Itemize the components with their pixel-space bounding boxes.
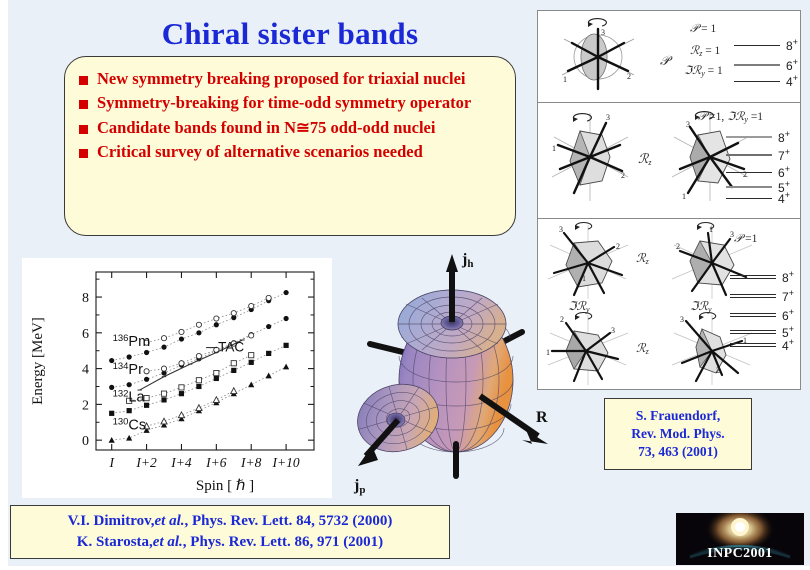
symmetry-panel-group: 3 1 2 𝒫 𝒫 = 1 ℛz = 1 ℑℛy = 1 8+ 6+ <box>537 10 801 390</box>
data-point <box>179 391 184 396</box>
chiral-geometry-figure: jh jp R <box>352 244 557 506</box>
svg-text:2: 2 <box>560 315 564 324</box>
data-point <box>179 329 184 334</box>
slide-canvas: Chiral sister bands New symmetry breakin… <box>0 0 810 570</box>
level-label: 8+ <box>778 129 790 145</box>
bullet-text: New symmetry breaking proposed for triax… <box>97 69 465 88</box>
bullet-text: Symmetry-breaking for time-odd symmetry … <box>97 93 471 112</box>
x-tick-label: I+6 <box>205 455 227 470</box>
svg-text:2: 2 <box>716 366 720 375</box>
level-line <box>726 136 772 138</box>
y-tick-label: 6 <box>82 327 89 342</box>
y-tick-label: 0 <box>82 434 89 449</box>
level-line <box>734 64 780 66</box>
left-margin-strip <box>0 0 8 570</box>
annotation-tac: TAC <box>218 340 244 355</box>
symmetry-panel-chiral: 3 1 2 ℛz <box>538 219 800 389</box>
svg-text:3: 3 <box>559 225 563 234</box>
data-point <box>161 397 166 402</box>
level-label: 4+ <box>782 337 794 353</box>
svg-text:1: 1 <box>563 75 567 84</box>
data-point <box>144 377 149 382</box>
level-4plus: 4+ <box>726 190 790 206</box>
level-line <box>734 81 780 82</box>
data-point <box>144 369 149 374</box>
x-tick-label: I+8 <box>240 455 262 470</box>
data-point <box>161 345 166 350</box>
level-line <box>726 198 772 199</box>
y-tick-label: 4 <box>82 363 89 378</box>
svg-text:1: 1 <box>709 225 713 234</box>
svg-text:3: 3 <box>611 326 615 335</box>
shape3d-svg: jh jp R <box>352 244 557 506</box>
level-label: 7+ <box>782 288 794 304</box>
condition-planar: 𝒫 =1, ℑℛy =1 <box>698 109 763 124</box>
data-point <box>231 361 236 366</box>
data-point <box>196 322 201 327</box>
bottom-margin-strip <box>0 566 810 570</box>
level-line-doublet <box>730 343 776 347</box>
bullet-text: Candidate bands found in N≅75 odd-odd nu… <box>97 118 435 137</box>
citation-line-dimitrov: V.I. Dimitrov,et al., Phys. Rev. Lett. 8… <box>68 511 393 532</box>
level-label: 8+ <box>786 37 798 53</box>
level-scheme-planar: 8+ 7+ 6+ 5+ 4+ <box>726 129 796 209</box>
data-point <box>283 290 288 295</box>
jh-arrowhead <box>446 254 458 272</box>
data-point <box>161 336 166 341</box>
svg-text:1: 1 <box>552 144 556 153</box>
data-point <box>127 408 132 413</box>
level-8plus: 8+ <box>730 269 794 285</box>
level-label: 6+ <box>778 164 790 180</box>
svg-text:2: 2 <box>616 242 620 251</box>
data-point <box>127 382 132 387</box>
data-point <box>179 336 184 341</box>
symmetry-panel-axial: 3 1 2 𝒫 𝒫 = 1 ℛz = 1 ℑℛy = 1 8+ 6+ <box>538 11 800 103</box>
level-4plus: 4+ <box>734 73 798 89</box>
list-item: Critical survey of alternative scenarios… <box>79 142 499 161</box>
inpc2001-logo: INPC2001 <box>676 513 804 565</box>
shape-diagram-planar-left: 3 1 2 <box>540 105 640 213</box>
jp-label: jp <box>353 477 365 496</box>
data-point <box>283 316 288 321</box>
symmetry-panel-planar: 3 1 2 ℛz <box>538 103 800 219</box>
data-point <box>144 396 149 401</box>
operator-label-Rz: ℛz <box>638 151 652 167</box>
level-8plus: 8+ <box>726 129 790 145</box>
condition-p: 𝒫 = 1 <box>690 23 716 36</box>
level-8plus: 8+ <box>734 37 798 53</box>
data-point <box>196 384 201 389</box>
svg-text:2: 2 <box>621 171 625 180</box>
x-tick-label: I <box>108 455 115 470</box>
level-scheme-chiral: 8+ 7+ 6+ 5+ 4+ <box>730 269 800 355</box>
level-line-doublet <box>730 294 776 298</box>
y-tick-label: 8 <box>82 291 89 306</box>
jh-label: jh <box>461 251 473 270</box>
svg-text:3: 3 <box>686 120 690 129</box>
data-point <box>266 324 271 329</box>
level-line <box>726 154 772 156</box>
energy-vs-spin-chart: 02468II+2I+4I+6I+8I+10Spin [ ℏ ]Energy [… <box>22 258 332 498</box>
page-title: Chiral sister bands <box>110 16 470 52</box>
level-scheme-axial: 8+ 6+ 4+ <box>734 37 798 93</box>
operator-label-Rz-bottom: ℛz <box>636 341 649 356</box>
bullet-square-icon <box>79 76 88 85</box>
data-point <box>161 366 166 371</box>
condition-iry: ℑℛy = 1 <box>684 63 723 78</box>
level-line <box>726 172 772 173</box>
data-point <box>231 311 236 316</box>
level-4plus: 4+ <box>730 337 794 353</box>
svg-text:3: 3 <box>606 113 610 122</box>
data-point <box>266 295 271 300</box>
bullet-callout: New symmetry breaking proposed for triax… <box>64 56 516 236</box>
citation-rest: , Phys. Rev. Lett. 86, 971 (2001) <box>183 534 383 550</box>
data-point <box>127 354 132 359</box>
citation-etal: et al. <box>153 534 183 550</box>
data-point <box>144 350 149 355</box>
data-point <box>179 385 184 390</box>
level-label: 8+ <box>782 269 794 285</box>
data-point <box>249 303 254 308</box>
citation-line: 73, 463 (2001) <box>638 443 718 461</box>
x-tick-label: I+4 <box>170 455 192 470</box>
list-item: New symmetry breaking proposed for triax… <box>79 69 499 88</box>
data-point <box>214 376 219 381</box>
level-6plus: 6+ <box>734 57 798 73</box>
data-point <box>214 316 219 321</box>
level-7plus: 7+ <box>726 147 790 163</box>
condition-rz: ℛz = 1 <box>690 43 720 58</box>
list-item: Candidate bands found in N≅75 odd-odd nu… <box>79 118 499 137</box>
data-point <box>196 378 201 383</box>
chart-svg: 02468II+2I+4I+6I+8I+10Spin [ ℏ ]Energy [… <box>22 258 332 498</box>
level-line <box>734 45 780 46</box>
operator-label-Rz-top: ℛz <box>636 251 649 266</box>
citation-author: K. Starosta, <box>77 534 153 550</box>
data-point <box>231 368 236 373</box>
level-label: 6+ <box>782 307 794 323</box>
level-label: 4+ <box>778 190 790 206</box>
data-point <box>283 343 288 348</box>
citation-line-starosta: K. Starosta,et al., Phys. Rev. Lett. 86,… <box>77 532 383 553</box>
svg-text:3: 3 <box>601 28 605 37</box>
data-point <box>196 353 201 358</box>
level-label: 7+ <box>778 147 790 163</box>
x-axis-label: Spin [ ℏ ] <box>196 478 254 494</box>
bullet-square-icon <box>79 149 88 158</box>
level-label: 4+ <box>786 73 798 89</box>
citation-line: Rev. Mod. Phys. <box>631 425 724 443</box>
svg-text:2: 2 <box>627 72 631 81</box>
bullet-square-icon <box>79 125 88 134</box>
data-point <box>249 333 254 338</box>
level-line <box>726 186 772 188</box>
y-axis-label: Energy [MeV] <box>30 317 46 405</box>
bullet-square-icon <box>79 100 88 109</box>
level-label: 6+ <box>786 57 798 73</box>
data-point <box>161 391 166 396</box>
svg-text:3: 3 <box>680 315 684 324</box>
data-point <box>196 330 201 335</box>
citation-frauendorf: S. Frauendorf, Rev. Mod. Phys. 73, 463 (… <box>604 398 752 470</box>
citation-author: V.I. Dimitrov, <box>68 513 155 529</box>
list-item: Symmetry-breaking for time-odd symmetry … <box>79 93 499 112</box>
citation-etal: et al. <box>155 513 185 529</box>
R-label: R <box>536 409 548 426</box>
data-point <box>266 351 271 356</box>
level-6plus: 6+ <box>726 164 790 180</box>
data-point <box>249 353 254 358</box>
citation-references: V.I. Dimitrov,et al., Phys. Rev. Lett. 8… <box>10 505 450 559</box>
data-point <box>179 361 184 366</box>
data-point <box>214 370 219 375</box>
data-point <box>214 322 219 327</box>
level-line-doublet <box>730 313 776 317</box>
shape-diagram-axial: 3 1 2 <box>542 13 652 103</box>
citation-rest: , Phys. Rev. Lett. 84, 5732 (2000) <box>185 513 393 529</box>
svg-text:1: 1 <box>582 274 586 283</box>
level-7plus: 7+ <box>730 288 794 304</box>
logo-text: INPC2001 <box>676 546 804 562</box>
condition-chiral: 𝒫 =1 <box>734 233 757 246</box>
operator-label-P: 𝒫 <box>660 53 669 69</box>
citation-line: S. Frauendorf, <box>636 407 720 425</box>
data-point <box>249 360 254 365</box>
data-point <box>144 403 149 408</box>
level-6plus: 6+ <box>730 307 794 323</box>
level-line-doublet <box>730 275 776 279</box>
svg-text:2: 2 <box>676 242 680 251</box>
level-line-doublet <box>730 330 776 334</box>
y-tick-label: 2 <box>82 398 89 413</box>
x-tick-label: I+2 <box>135 455 157 470</box>
x-tick-label: I+10 <box>272 455 300 470</box>
svg-text:1: 1 <box>682 192 686 201</box>
bullet-text: Critical survey of alternative scenarios… <box>97 142 423 161</box>
